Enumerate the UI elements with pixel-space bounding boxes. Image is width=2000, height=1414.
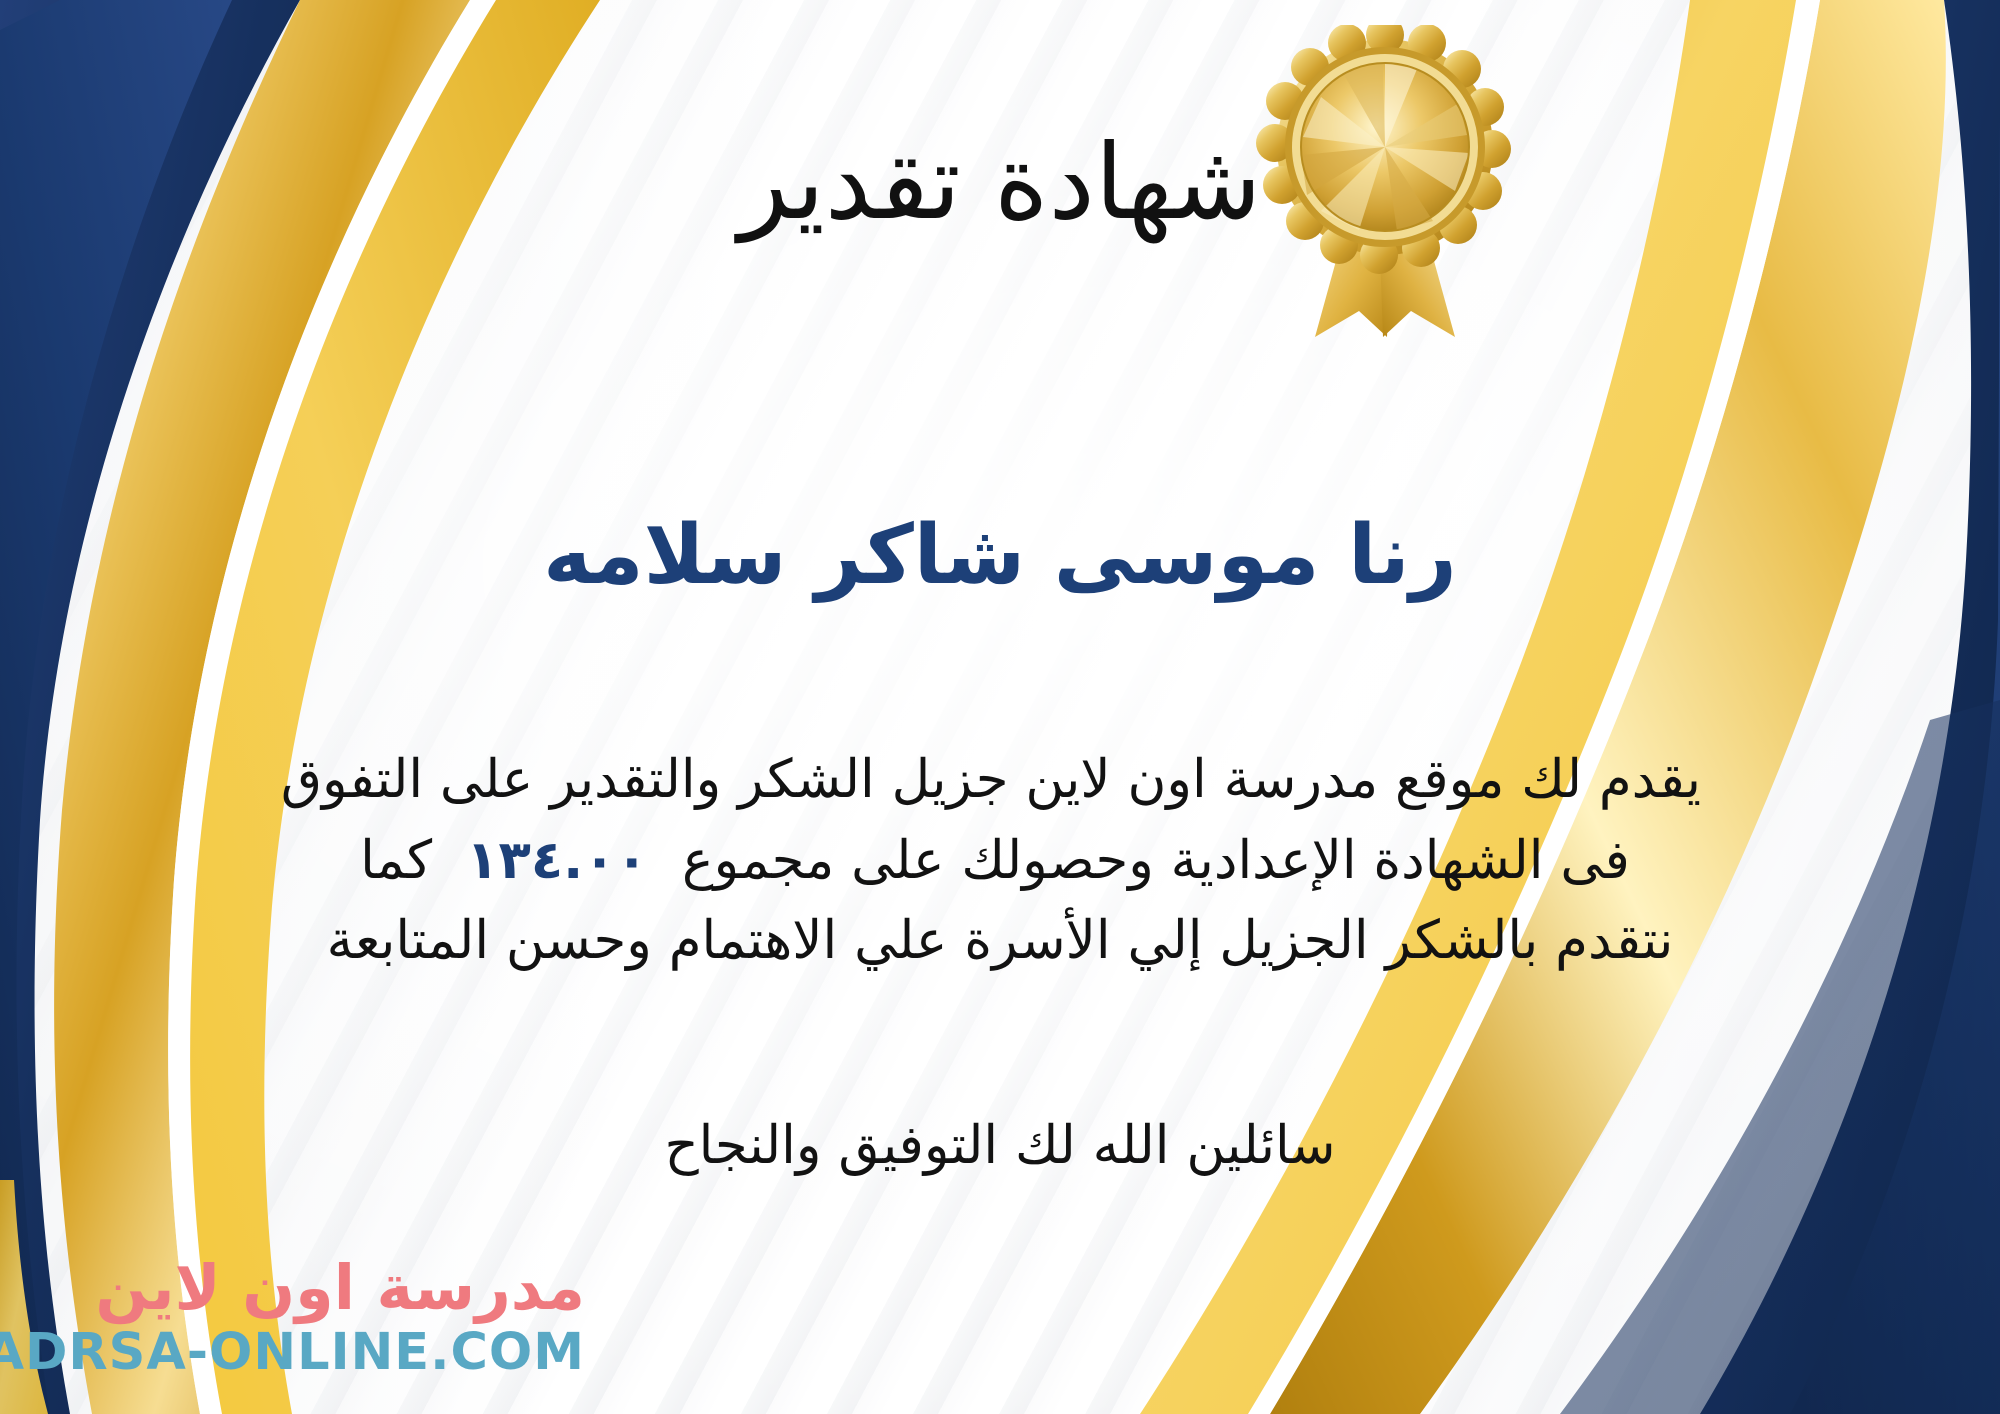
brand-name-arabic: مدرسة اون لاين xyxy=(95,1257,585,1319)
body-line-2: فى الشهادة الإعدادية وحصولك على مجموع١٣٤… xyxy=(70,821,1930,902)
body-line-1: يقدم لك موقع مدرسة اون لاين جزيل الشكر و… xyxy=(70,740,1930,821)
score-value: ١٣٤.٠٠ xyxy=(432,830,682,891)
closing-line: سائلين الله لك التوفيق والنجاح xyxy=(0,1115,2000,1176)
brand-text-group: مدرسة اون لاين MADRSA-ONLINE.COM xyxy=(0,1257,585,1378)
page-title: شهادة تقدير xyxy=(0,120,2000,245)
brand-logo[interactable]: مدرسة اون لاين MADRSA-ONLINE.COM xyxy=(25,1242,585,1392)
body-line-2-suffix: كما xyxy=(360,830,432,891)
body-line-3: نتقدم بالشكر الجزيل إلي الأسرة علي الاهت… xyxy=(70,901,1930,982)
recipient-name: رنا موسى شاكر سلامه xyxy=(0,505,2000,608)
certificate-body: يقدم لك موقع مدرسة اون لاين جزيل الشكر و… xyxy=(70,740,1930,982)
brand-website-url: MADRSA-ONLINE.COM xyxy=(0,1327,585,1378)
certificate-canvas: شهادة تقدير رنا موسى شاكر سلامه يقدم لك … xyxy=(0,0,2000,1414)
body-line-2-prefix: فى الشهادة الإعدادية وحصولك على مجموع xyxy=(682,830,1630,891)
certificate-content: شهادة تقدير رنا موسى شاكر سلامه يقدم لك … xyxy=(0,0,2000,1414)
